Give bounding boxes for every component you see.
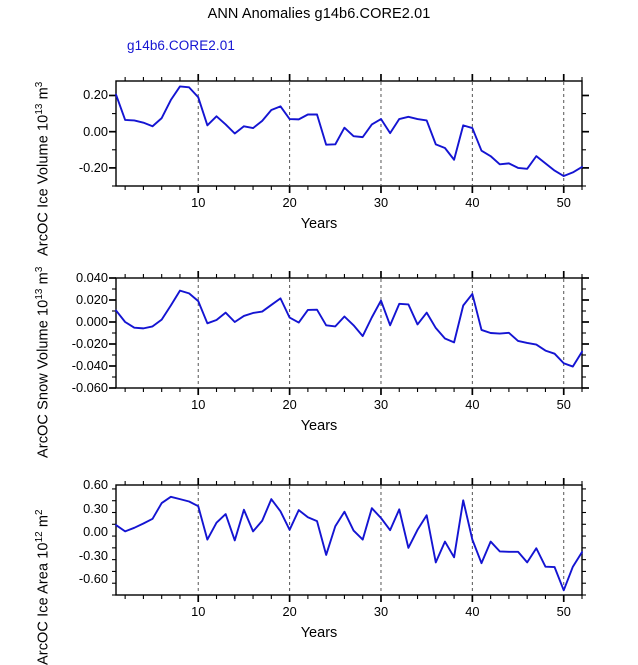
xtick-label-ice-area-40: 40 [452,604,492,619]
yaxis-label-ice-area: ArcOC Ice Area 1012 m2 [34,509,51,665]
xtick-label-ice-area-50: 50 [544,604,584,619]
xtick-label-ice-area-10: 10 [178,604,218,619]
xaxis-label-ice-area: Years [0,625,638,641]
ytick-label-ice-area-3: -0.30 [56,548,108,563]
plot-canvas-ice-area [0,0,638,638]
panel-arcoc-ice-area: 0.600.300.00-0.30-0.601020304050YearsArc… [0,0,638,638]
xtick-label-ice-area-30: 30 [361,604,401,619]
ytick-label-ice-area-0: 0.60 [56,477,108,492]
ytick-label-ice-area-1: 0.30 [56,501,108,516]
ytick-label-ice-area-2: 0.00 [56,524,108,539]
figure-root: ANN Anomalies g14b6.CORE2.01 g14b6.CORE2… [0,0,638,638]
ytick-label-ice-area-4: -0.60 [56,571,108,586]
xtick-label-ice-area-20: 20 [270,604,310,619]
